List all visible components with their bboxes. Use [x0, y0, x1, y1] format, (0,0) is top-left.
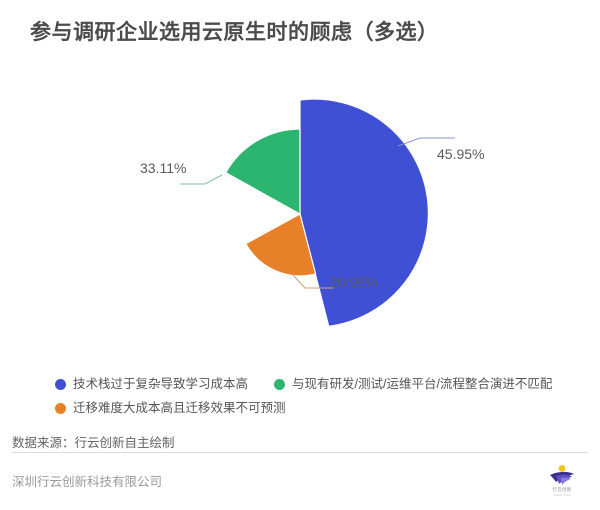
- chart-page: 参与调研企业选用云原生时的顾虑（多选） 45.95% 33.11% 20.95%…: [0, 0, 600, 510]
- pie-chart-svg: [0, 70, 600, 355]
- data-source-text: 数据来源：行云创新自主绘制: [12, 432, 175, 451]
- pie-label-green: 33.11%: [140, 160, 186, 176]
- pie-slice-blue[interactable]: [300, 99, 428, 326]
- pie-slice-green[interactable]: [226, 129, 300, 214]
- logo-subcaption: Cloud Tech: [540, 493, 584, 497]
- legend-item-1[interactable]: 与现有研发/测试/运维平台/流程整合演进不匹配: [274, 377, 552, 392]
- company-name-text: 深圳行云创新科技有限公司: [12, 471, 162, 490]
- pie-label-blue: 45.95%: [437, 146, 484, 162]
- company-logo: 行云创新 Cloud Tech: [540, 462, 584, 500]
- legend-label-2: 迁移难度大成本高且迁移效果不可预测: [73, 401, 286, 416]
- legend-item-2[interactable]: 迁移难度大成本高且迁移效果不可预测: [55, 401, 286, 416]
- pie-label-orange: 20.95%: [330, 274, 377, 290]
- chart-legend: 技术栈过于复杂导致学习成本高 与现有研发/测试/运维平台/流程整合演进不匹配 迁…: [55, 374, 575, 422]
- page-title: 参与调研企业选用云原生时的顾虑（多选）: [30, 18, 580, 48]
- legend-row-2: 迁移难度大成本高且迁移效果不可预测: [55, 398, 575, 419]
- footer-divider: [12, 452, 588, 453]
- legend-dot-icon-orange: [55, 403, 66, 414]
- legend-label-0: 技术栈过于复杂导致学习成本高: [73, 377, 248, 392]
- leader-line-blue: [398, 138, 455, 146]
- legend-dot-icon-green: [274, 379, 285, 390]
- pie-chart-plot-area: 45.95% 33.11% 20.95%: [0, 70, 600, 355]
- leader-line-green: [180, 175, 222, 184]
- legend-label-1: 与现有研发/测试/运维平台/流程整合演进不匹配: [292, 377, 552, 392]
- legend-item-0[interactable]: 技术栈过于复杂导致学习成本高: [55, 377, 248, 392]
- logo-mark-icon: [540, 462, 584, 488]
- legend-row-1: 技术栈过于复杂导致学习成本高 与现有研发/测试/运维平台/流程整合演进不匹配: [55, 374, 575, 395]
- legend-dot-icon-blue: [55, 379, 66, 390]
